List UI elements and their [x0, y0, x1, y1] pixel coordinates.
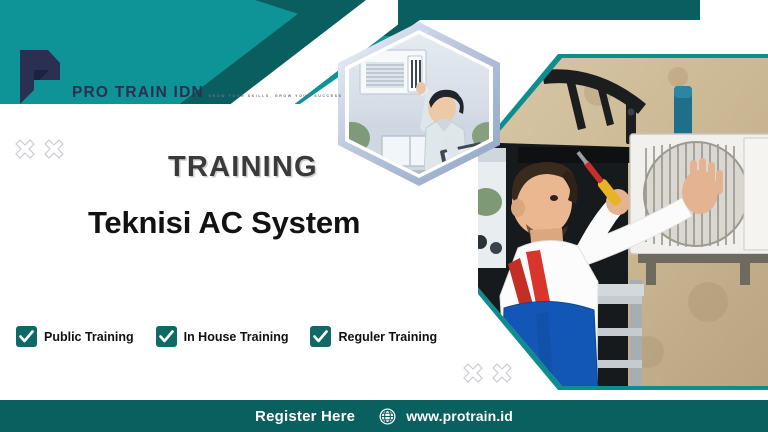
training-option-label: Reguler Training — [338, 330, 437, 344]
hero-image-outdoor-ac — [478, 52, 768, 392]
page-title: Teknisi AC System — [88, 206, 360, 240]
x-cross-outline-icon — [41, 136, 67, 162]
decor-x-group-left — [12, 136, 67, 162]
brand-name: PRO TRAIN IDN — [72, 84, 204, 101]
chevron-arrow-logo-icon — [14, 46, 66, 108]
x-cross-outline-icon — [12, 136, 38, 162]
register-here-cta[interactable]: Register Here — [255, 408, 355, 425]
training-option-public[interactable]: Public Training — [16, 326, 134, 347]
brand-logo: PRO TRAIN IDN GROW YOUR SKILLS, GROW YOU… — [14, 46, 343, 108]
training-option-reguler[interactable]: Reguler Training — [310, 326, 437, 347]
training-option-label: In House Training — [184, 330, 289, 344]
training-option-label: Public Training — [44, 330, 134, 344]
checkbox-checked-icon[interactable] — [310, 326, 331, 347]
training-option-in-house[interactable]: In House Training — [156, 326, 289, 347]
globe-icon — [379, 408, 396, 425]
brand-tagline: GROW YOUR SKILLS, GROW YOUR SUCCESS — [208, 94, 342, 98]
poster-canvas: PRO TRAIN IDN GROW YOUR SKILLS, GROW YOU… — [0, 0, 768, 432]
website-url: www.protrain.id — [406, 408, 513, 424]
checkbox-checked-icon[interactable] — [156, 326, 177, 347]
footer-bar: Register Here www.protrain.id — [0, 400, 768, 432]
hero-image-ceiling-ac — [330, 18, 508, 190]
eyebrow-heading: TRAINING — [168, 153, 318, 182]
training-options-list: Public Training In House Training Regule… — [16, 326, 437, 347]
website-link[interactable]: www.protrain.id — [379, 408, 513, 425]
checkbox-checked-icon[interactable] — [16, 326, 37, 347]
